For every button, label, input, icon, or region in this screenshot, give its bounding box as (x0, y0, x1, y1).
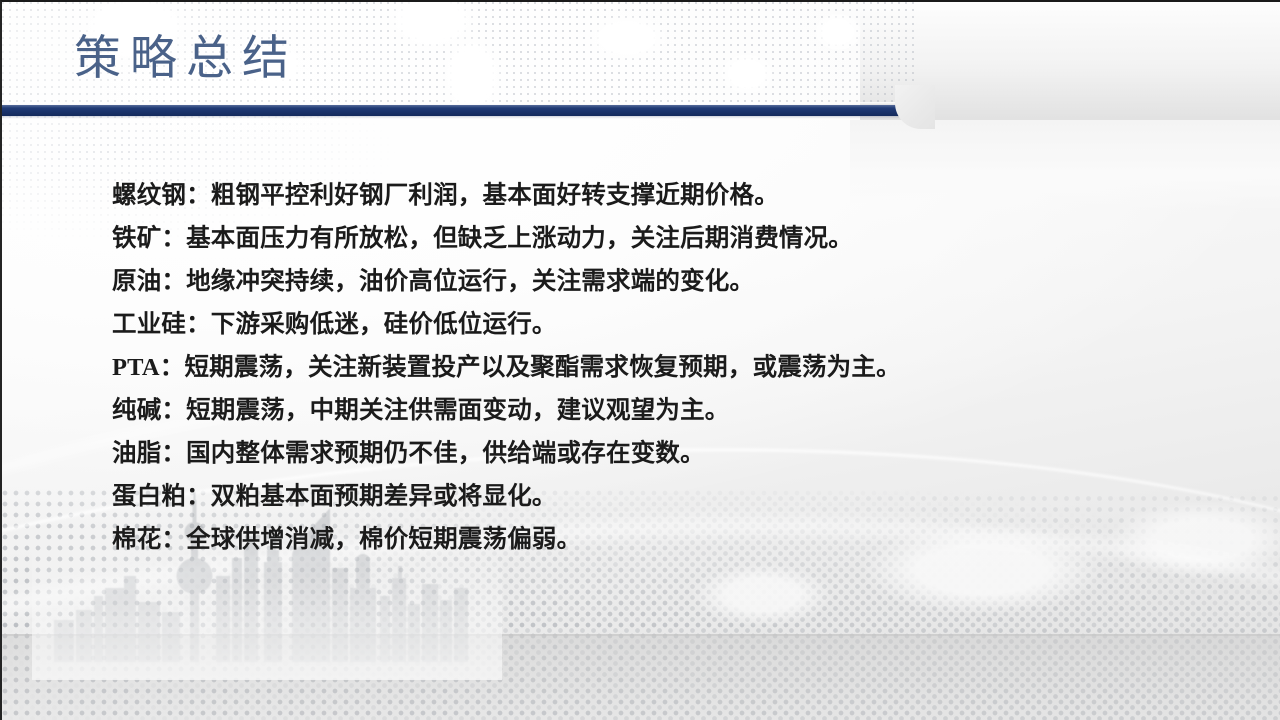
summary-line-crude-oil: 原油：地缘冲突持续，油价高位运行，关注需求端的变化。 (112, 260, 1192, 303)
presentation-slide: 策略总结 螺纹钢：粗钢平控利好钢厂利润，基本面好转支撑近期价格。 铁矿：基本面压… (0, 0, 1280, 720)
summary-line-oils-fats: 油脂：国内整体需求预期仍不佳，供给端或存在变数。 (112, 432, 1192, 475)
page-title: 策略总结 (74, 35, 298, 84)
summary-line-iron-ore: 铁矿：基本面压力有所放松，但缺乏上涨动力，关注后期消费情况。 (112, 217, 1192, 260)
bottom-shade-band (2, 634, 1280, 720)
summary-text-block: 螺纹钢：粗钢平控利好钢厂利润，基本面好转支撑近期价格。 铁矿：基本面压力有所放松… (112, 174, 1192, 561)
summary-line-rebar: 螺纹钢：粗钢平控利好钢厂利润，基本面好转支撑近期价格。 (112, 174, 1192, 217)
summary-line-protein-meal: 蛋白粕：双粕基本面预期差异或将显化。 (112, 475, 1192, 518)
summary-line-cotton: 棉花：全球供增消减，棉价短期震荡偏弱。 (112, 518, 1192, 561)
title-accent-bar (2, 105, 908, 116)
summary-line-silicon: 工业硅：下游采购低迷，硅价低位运行。 (112, 303, 1192, 346)
summary-line-soda-ash: 纯碱：短期震荡，中期关注供需面变动，建议观望为主。 (112, 389, 1192, 432)
title-accent-bar-shine (2, 105, 908, 108)
summary-line-pta: PTA：短期震荡，关注新装置投产以及聚酯需求恢复预期，或震荡为主。 (112, 346, 1192, 389)
slide-title-container: 策略总结 (74, 35, 298, 84)
